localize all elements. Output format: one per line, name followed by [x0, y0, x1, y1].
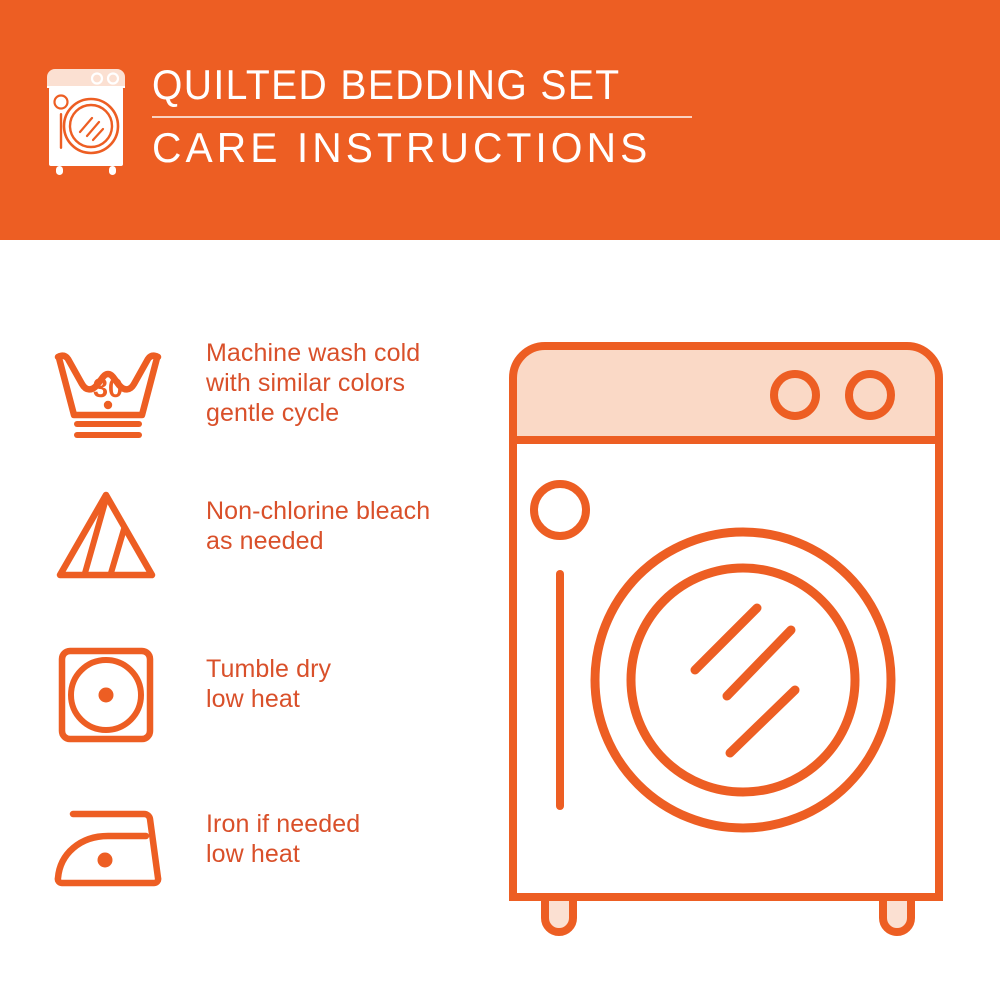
header-titles: QUILTED BEDDING SET CARE INSTRUCTIONS: [152, 62, 692, 172]
list-item: Non-chlorine bleach as needed: [48, 480, 488, 590]
control-panel: [513, 346, 939, 440]
front-load-washing-machine-illustration: [495, 330, 975, 940]
machine-foot: [545, 897, 573, 932]
list-item-label: Tumble dry low heat: [206, 638, 331, 714]
header-banner: QUILTED BEDDING SET CARE INSTRUCTIONS: [0, 0, 1000, 240]
care-instructions-page: QUILTED BEDDING SET CARE INSTRUCTIONS 30…: [0, 0, 1000, 1000]
iron-low-heat-icon: [48, 795, 168, 905]
washing-machine-icon: [40, 66, 136, 178]
wash-temperature-label: 30: [93, 373, 123, 403]
list-item-label: Machine wash cold with similar colors ge…: [206, 338, 420, 428]
wash-tub-30-gentle-icon: 30: [48, 338, 168, 448]
machine-foot: [883, 897, 911, 932]
page-title: QUILTED BEDDING SET: [152, 62, 654, 108]
list-item: 30 Machine wash cold with similar colors…: [48, 338, 488, 448]
non-chlorine-bleach-triangle-icon: [48, 480, 168, 590]
page-subtitle: CARE INSTRUCTIONS: [152, 124, 676, 172]
detail-line: [556, 570, 564, 810]
list-item-label: Non-chlorine bleach as needed: [206, 480, 430, 556]
header-content: QUILTED BEDDING SET CARE INSTRUCTIONS: [40, 62, 692, 178]
tumble-dry-low-heat-icon: [48, 638, 168, 748]
list-item: Tumble dry low heat: [48, 638, 488, 748]
care-instruction-list: 30 Machine wash cold with similar colors…: [0, 240, 500, 1000]
list-item: Iron if needed low heat: [48, 795, 488, 905]
title-divider: [152, 116, 692, 118]
list-item-label: Iron if needed low heat: [206, 795, 360, 869]
